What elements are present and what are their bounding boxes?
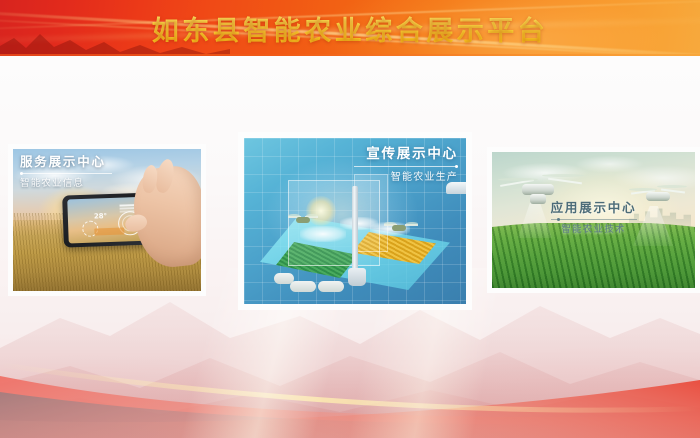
card-application-center[interactable]: 应用展示中心 智能农业技术 <box>487 147 700 293</box>
card-service-center[interactable]: 28° 服务展示中心 智能农业信息 <box>8 144 206 296</box>
card-photo-isometric-farm <box>244 138 466 304</box>
header-banner: 如东县智能农业综合展示平台 <box>0 0 700 56</box>
hud-temperature-readout: 28° <box>94 212 108 220</box>
card-photo-wheat-phone: 28° <box>13 149 201 291</box>
page-title: 如东县智能农业综合展示平台 <box>0 0 700 56</box>
background-red-bands <box>0 318 700 438</box>
drone-icon-small <box>629 182 687 210</box>
page-root: 如东县智能农业综合展示平台 28° <box>0 0 700 438</box>
drone-icon-large <box>498 170 584 210</box>
card-photo-drones-field <box>492 152 695 288</box>
hay-roll-3 <box>274 273 294 284</box>
street-lamp-pole <box>352 186 358 270</box>
street-lamp-head <box>446 182 466 194</box>
hud-data-chip <box>94 228 124 236</box>
drone-icon-right <box>384 220 418 233</box>
glass-enclosure-right <box>354 174 388 252</box>
hay-roll-1 <box>290 281 316 292</box>
card-promotion-center[interactable]: 宣传展示中心 智能农业生产 <box>238 132 472 310</box>
hay-roll-2 <box>318 281 344 292</box>
water-bucket-icon <box>348 268 366 286</box>
drone-icon-left <box>288 212 318 224</box>
